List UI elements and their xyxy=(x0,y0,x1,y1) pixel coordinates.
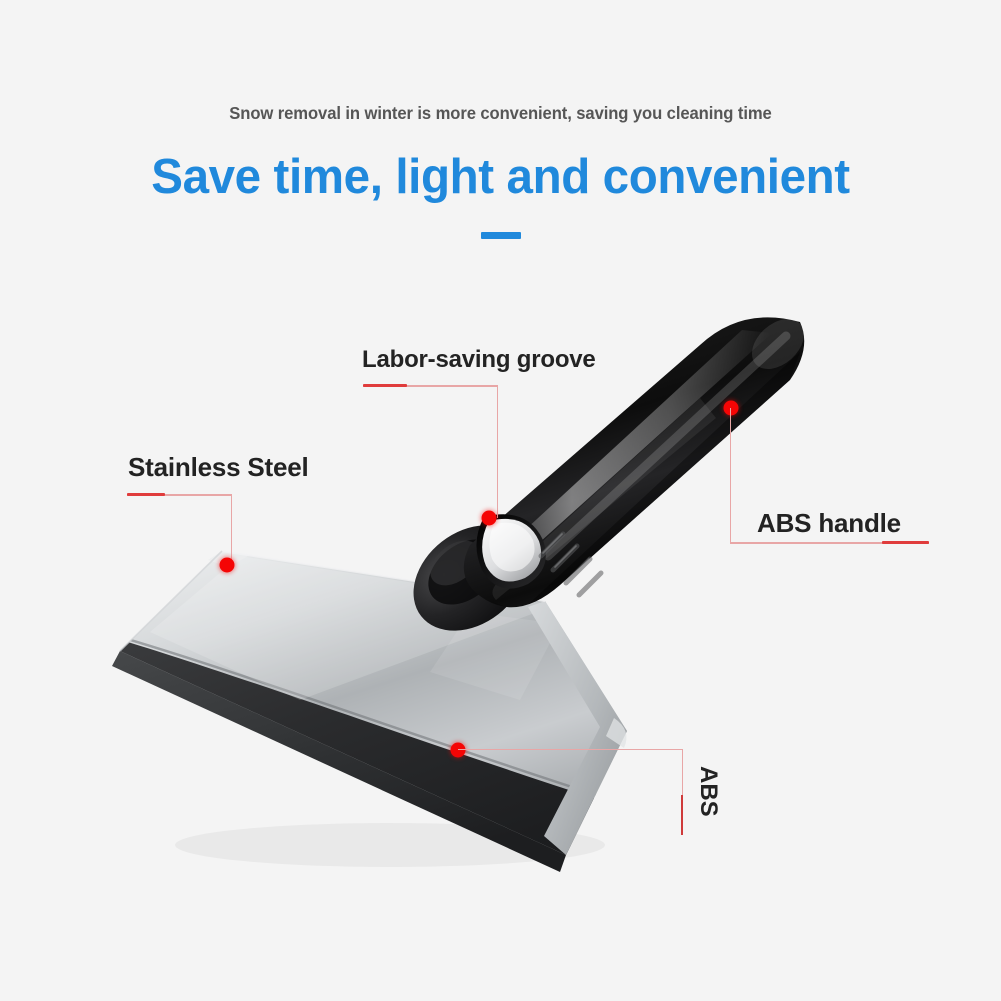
annotation-dot-labor-saving-groove xyxy=(482,511,497,526)
connector-line-stainless-steel xyxy=(231,494,232,565)
connector-line-labor-saving-groove xyxy=(497,385,498,518)
label-underline-abs-handle xyxy=(730,542,929,544)
label-abs-handle: ABS handle xyxy=(757,508,901,539)
label-stainless-steel: Stainless Steel xyxy=(128,452,309,483)
label-underline-stainless-steel xyxy=(127,494,232,496)
product-illustration xyxy=(0,0,1001,1001)
connector-cap-abs-base xyxy=(681,795,683,835)
label-abs-base: ABS xyxy=(694,766,722,817)
annotation-dot-stainless-steel xyxy=(220,558,235,573)
connector-line-abs-base-horizontal xyxy=(458,749,683,750)
connector-line-abs-handle xyxy=(730,408,731,543)
infographic-canvas: Snow removal in winter is more convenien… xyxy=(0,0,1001,1001)
underline-cap xyxy=(882,541,929,544)
label-underline-labor-saving-groove xyxy=(363,385,498,387)
underline-cap xyxy=(363,384,407,387)
underline-cap xyxy=(127,493,165,496)
label-labor-saving-groove: Labor-saving groove xyxy=(362,346,596,374)
